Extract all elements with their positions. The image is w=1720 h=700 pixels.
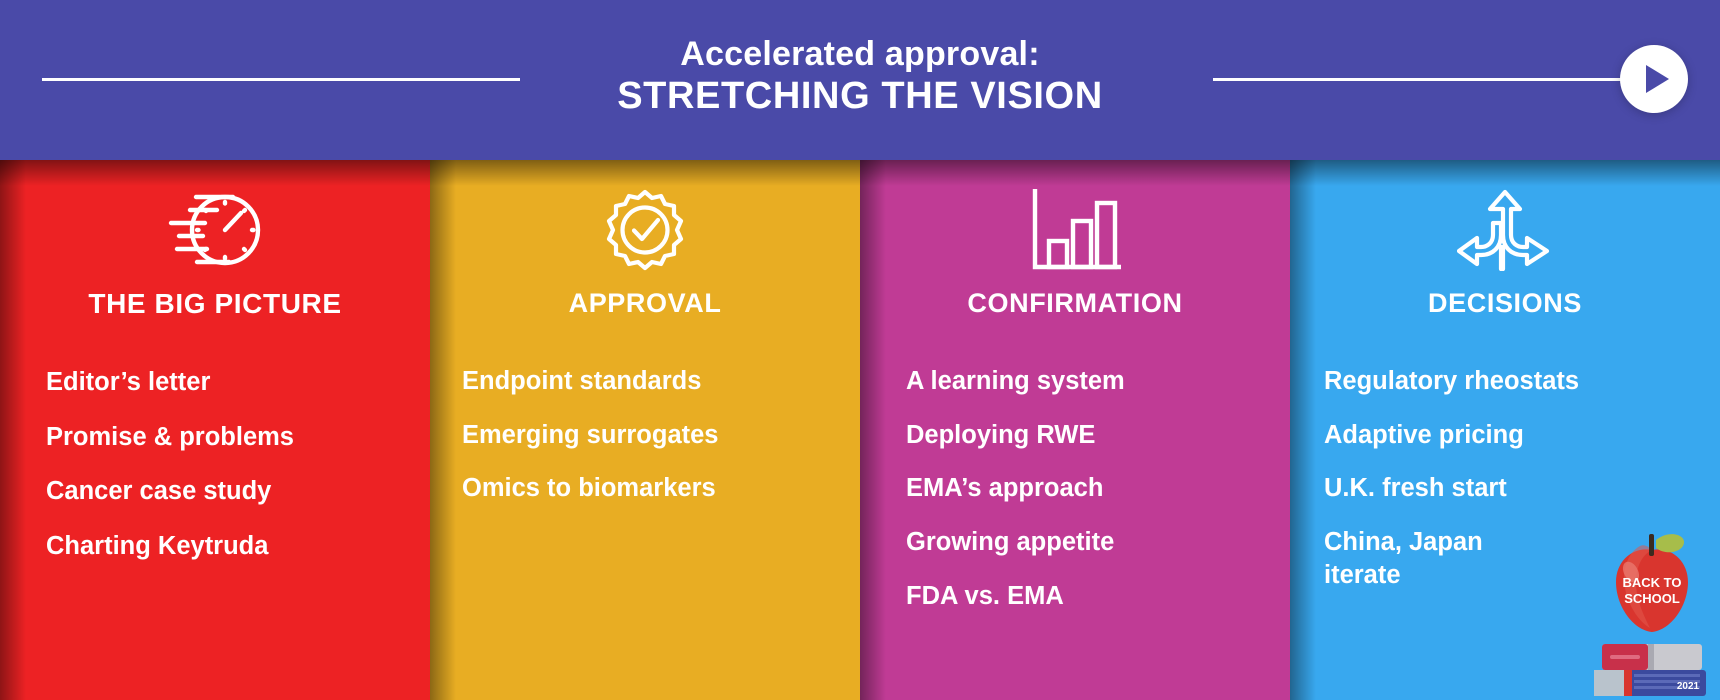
- column-heading: APPROVAL: [430, 288, 860, 319]
- column-heading: THE BIG PICTURE: [0, 288, 430, 320]
- column-item-list: A learning system Deploying RWE EMA’s ap…: [860, 365, 1290, 633]
- column-the-big-picture[interactable]: THE BIG PICTURE Editor’s letter Promise …: [0, 160, 430, 700]
- apple-label-line-2: SCHOOL: [1624, 591, 1680, 606]
- three-way-arrows-icon: [1290, 182, 1720, 278]
- bar-chart-icon: [860, 182, 1290, 278]
- list-item[interactable]: Endpoint standards: [462, 365, 860, 419]
- list-item[interactable]: Deploying RWE: [906, 419, 1290, 473]
- column-heading: CONFIRMATION: [860, 288, 1290, 319]
- list-item[interactable]: Omics to biomarkers: [462, 472, 860, 526]
- list-item[interactable]: China, Japan iterate: [1324, 526, 1524, 612]
- column-item-list: Editor’s letter Promise & problems Cance…: [0, 366, 430, 585]
- divider-line-right-icon: [1213, 78, 1641, 81]
- column-heading: DECISIONS: [1290, 288, 1720, 319]
- list-item[interactable]: Charting Keytruda: [46, 530, 430, 585]
- play-icon: [1646, 65, 1669, 93]
- list-item[interactable]: Emerging surrogates: [462, 419, 860, 473]
- infographic-page: Accelerated approval: STRETCHING THE VIS…: [0, 0, 1720, 700]
- list-item[interactable]: Editor’s letter: [46, 366, 430, 421]
- list-item[interactable]: A learning system: [906, 365, 1290, 419]
- column-confirmation[interactable]: CONFIRMATION A learning system Deploying…: [860, 160, 1290, 700]
- apple: BACK TO SCHOOL: [1616, 534, 1688, 632]
- divider-line-left-icon: [42, 78, 520, 81]
- column-approval[interactable]: APPROVAL Endpoint standards Emerging sur…: [430, 160, 860, 700]
- category-columns: THE BIG PICTURE Editor’s letter Promise …: [0, 160, 1720, 700]
- list-item[interactable]: Adaptive pricing: [1324, 419, 1720, 473]
- apple-label-line-1: BACK TO: [1623, 575, 1682, 590]
- play-button[interactable]: [1620, 45, 1688, 113]
- list-item[interactable]: U.K. fresh start: [1324, 472, 1720, 526]
- back-to-school-apple-books: 2021 BACK TO SCHOOL: [1588, 520, 1718, 700]
- list-item[interactable]: Cancer case study: [46, 475, 430, 530]
- book-year-label: 2021: [1677, 681, 1700, 692]
- book-blue: 2021: [1594, 670, 1706, 696]
- list-item[interactable]: FDA vs. EMA: [906, 580, 1290, 634]
- book-red: [1602, 644, 1702, 670]
- list-item[interactable]: Growing appetite: [906, 526, 1290, 580]
- page-title-line-1: Accelerated approval:: [617, 35, 1103, 74]
- check-badge-icon: [430, 182, 860, 278]
- header-banner: Accelerated approval: STRETCHING THE VIS…: [0, 0, 1720, 160]
- list-item[interactable]: Regulatory rheostats: [1324, 365, 1720, 419]
- column-item-list: Endpoint standards Emerging surrogates O…: [430, 365, 860, 526]
- list-item[interactable]: Promise & problems: [46, 421, 430, 476]
- list-item[interactable]: EMA’s approach: [906, 472, 1290, 526]
- page-title: Accelerated approval: STRETCHING THE VIS…: [617, 35, 1103, 125]
- fast-clock-icon: [0, 182, 430, 278]
- page-title-line-2: STRETCHING THE VISION: [617, 74, 1103, 119]
